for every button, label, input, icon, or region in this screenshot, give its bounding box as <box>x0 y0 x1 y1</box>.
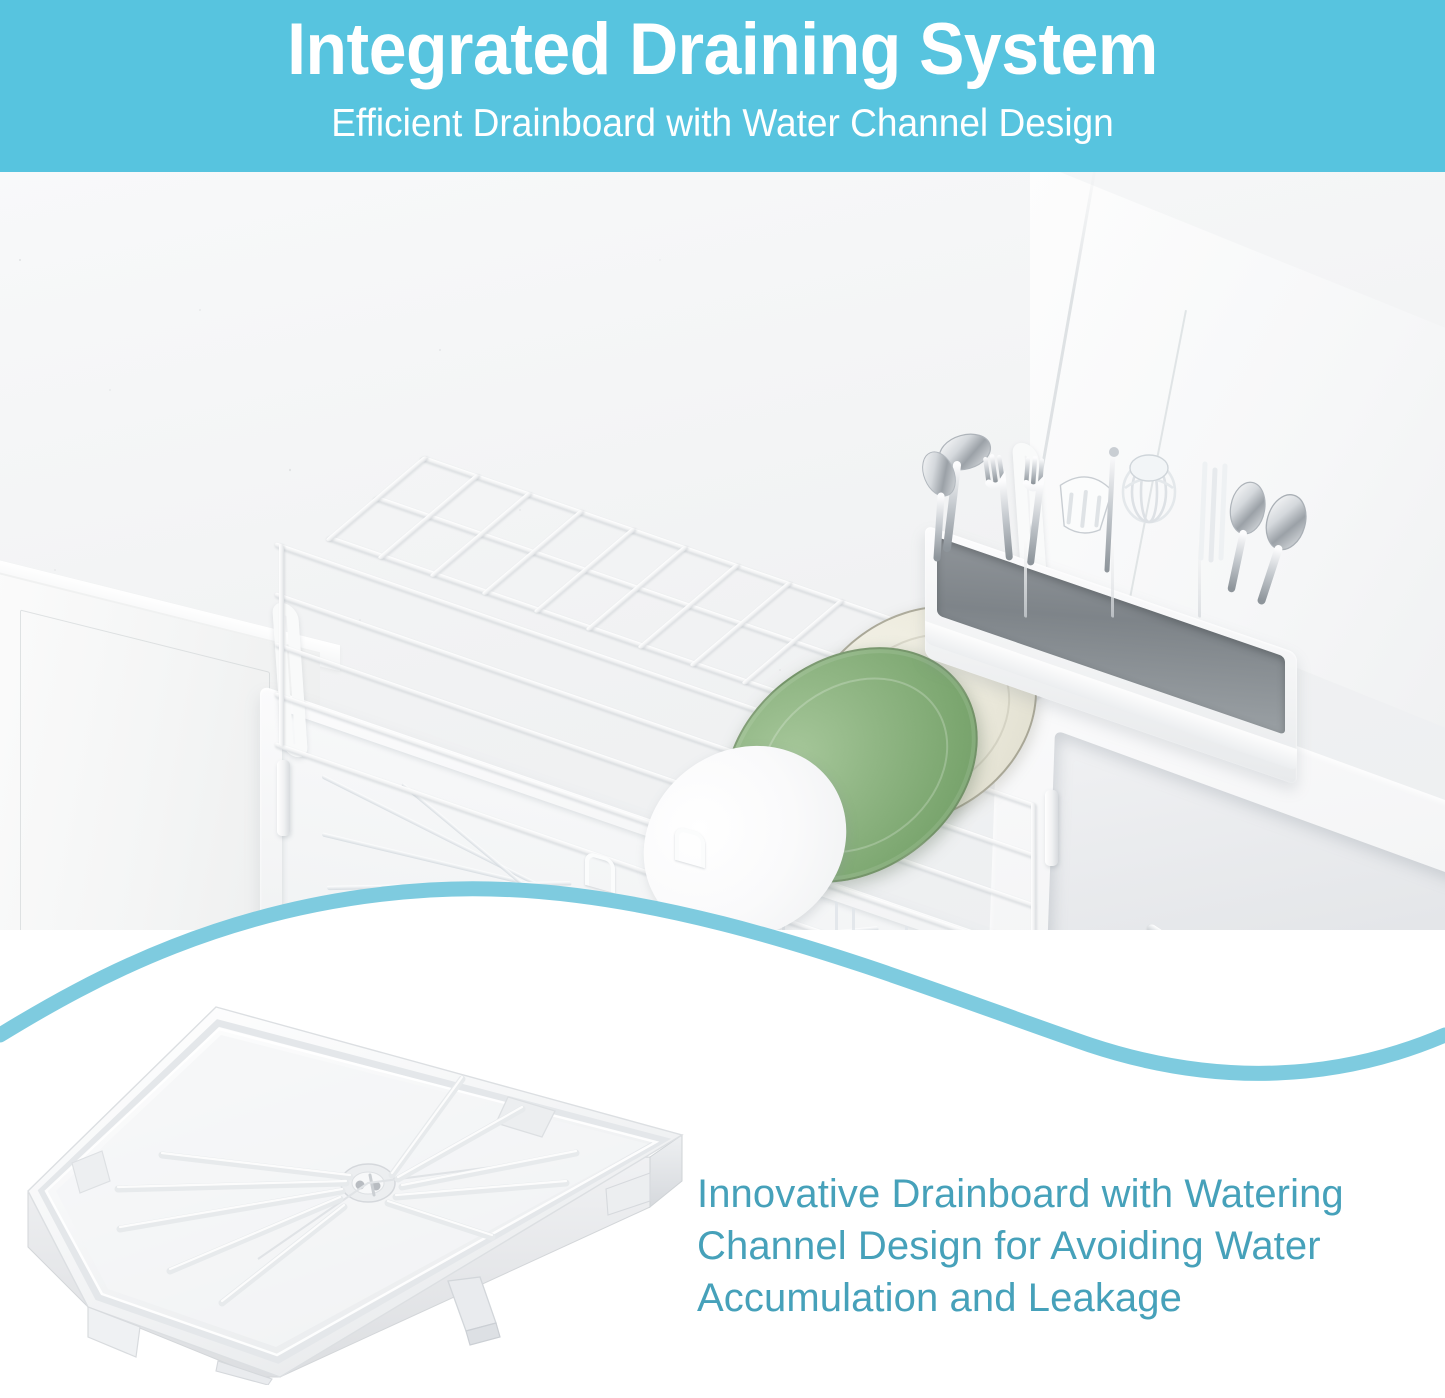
feature-caption: Innovative Drainboard with Watering Chan… <box>697 1168 1437 1324</box>
product-marketing-image: Integrated Draining System Efficient Dra… <box>0 0 1445 1398</box>
caption-line-1: Innovative Drainboard with Watering <box>697 1168 1437 1220</box>
caption-line-3: Accumulation and Leakage <box>697 1272 1437 1324</box>
banner-title: Integrated Draining System <box>51 6 1395 94</box>
caption-line-2: Channel Design for Avoiding Water <box>697 1220 1437 1272</box>
header-banner: Integrated Draining System Efficient Dra… <box>0 0 1445 172</box>
utensil-caddy <box>925 525 1305 735</box>
drainboard-product <box>10 985 690 1385</box>
utensils-group <box>917 430 1317 650</box>
banner-subtitle: Efficient Drainboard with Water Channel … <box>36 100 1409 148</box>
